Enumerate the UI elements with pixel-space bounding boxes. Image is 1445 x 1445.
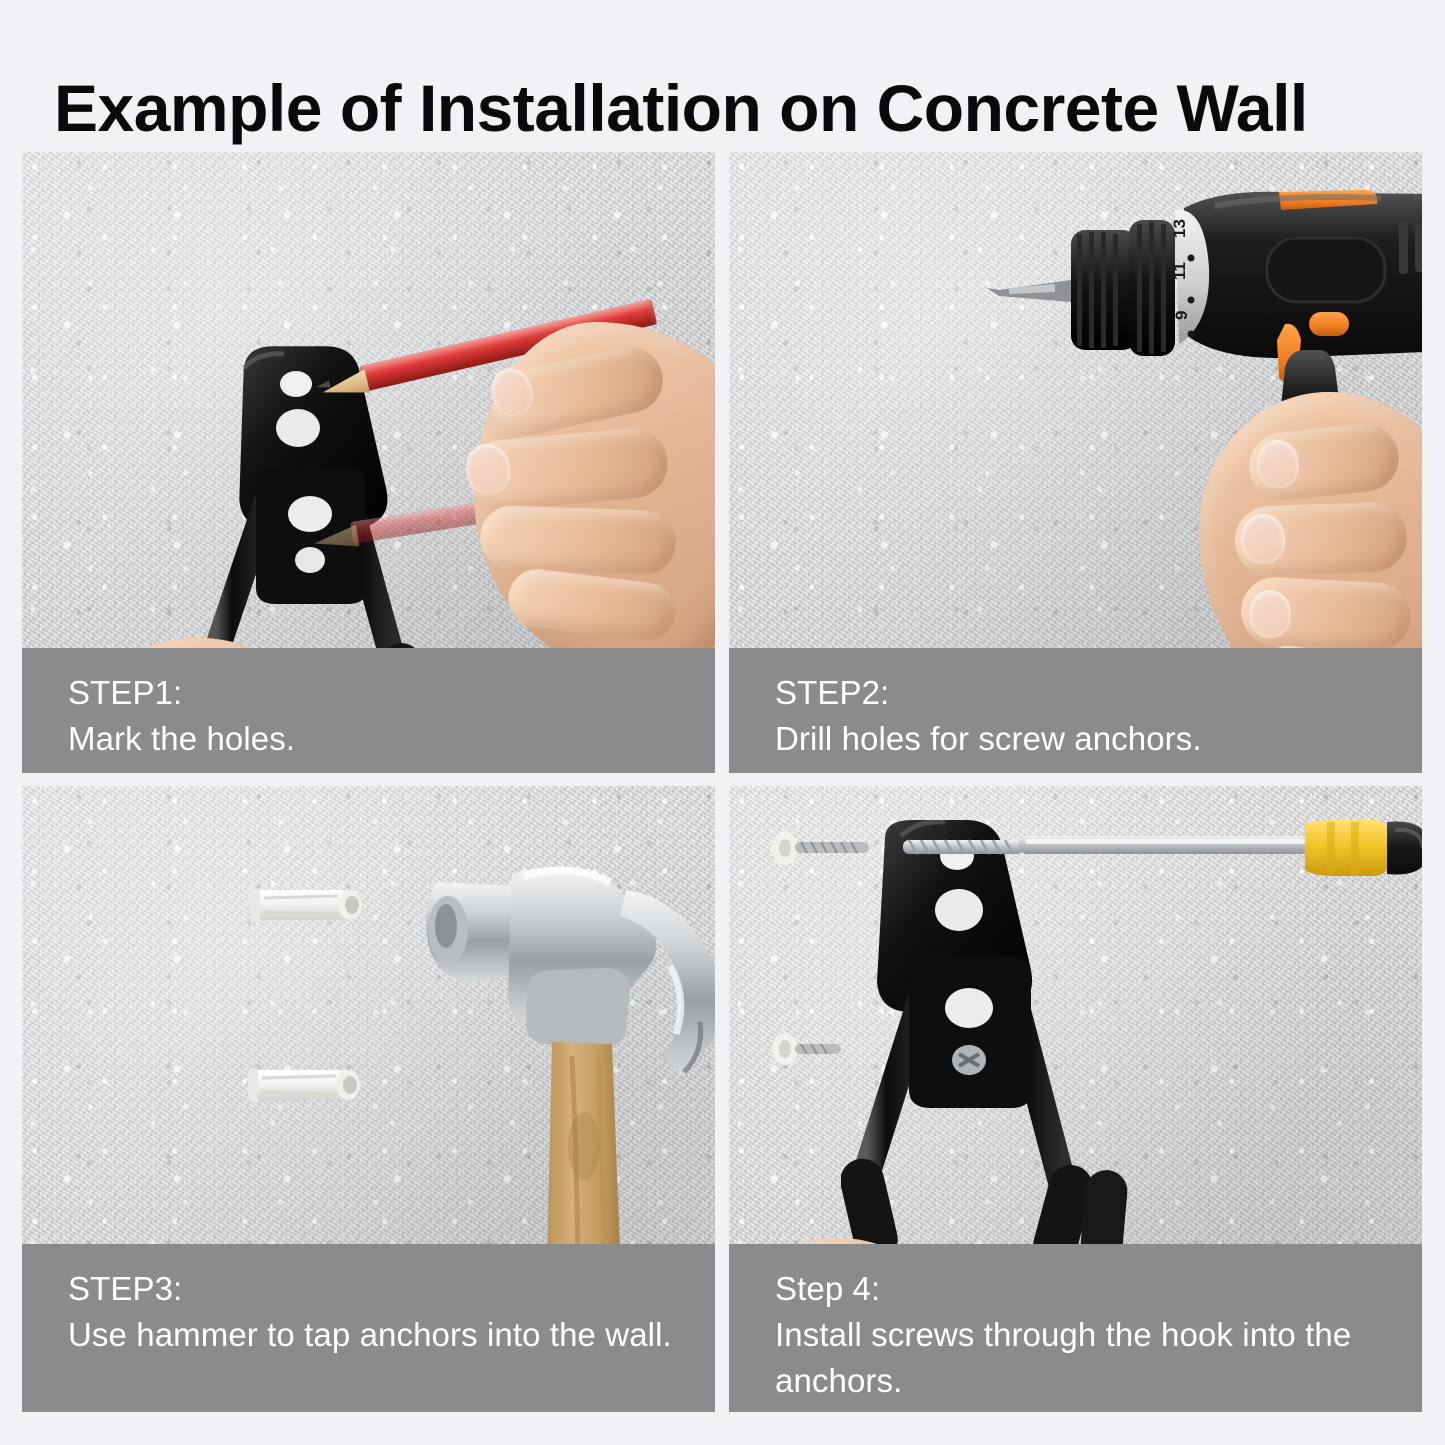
steps-grid: STEP1: Mark the holes. xyxy=(22,152,1422,1412)
svg-text:13: 13 xyxy=(1170,219,1189,238)
wall-anchor-icon xyxy=(244,1064,364,1106)
fingernail xyxy=(1241,514,1285,564)
step-panel-4: Step 4: Install screws through the hook … xyxy=(729,786,1422,1412)
step-4-caption: Step 4: Install screws through the hook … xyxy=(729,1244,1422,1412)
step-4-text: Install screws through the hook into the… xyxy=(775,1312,1422,1404)
step-4-label: Step 4: xyxy=(775,1266,1422,1312)
wall-anchor-icon xyxy=(246,884,366,926)
step-1-caption: STEP1: Mark the holes. xyxy=(22,648,715,773)
screwdriver-icon xyxy=(889,806,1422,902)
finger xyxy=(479,505,677,576)
installation-guide-page: Example of Installation on Concrete Wall xyxy=(0,0,1445,1445)
step-panel-2: 13 11 9 xyxy=(729,152,1422,773)
page-title: Example of Installation on Concrete Wall xyxy=(54,72,1404,146)
step-2-caption: STEP2: Drill holes for screw anchors. xyxy=(729,648,1422,773)
step-3-label: STEP3: xyxy=(68,1266,715,1312)
step-2-text: Drill holes for screw anchors. xyxy=(775,716,1422,762)
step-2-label: STEP2: xyxy=(775,670,1422,716)
step-panel-1: STEP1: Mark the holes. xyxy=(22,152,715,773)
svg-text:9: 9 xyxy=(1172,311,1191,320)
fingernail xyxy=(1257,440,1299,488)
fingernail xyxy=(1249,590,1291,638)
step-1-label: STEP1: xyxy=(68,670,715,716)
svg-text:11: 11 xyxy=(1170,262,1189,280)
step-3-text: Use hammer to tap anchors into the wall. xyxy=(68,1312,715,1358)
step-panel-3: STEP3: Use hammer to tap anchors into th… xyxy=(22,786,715,1412)
step-3-caption: STEP3: Use hammer to tap anchors into th… xyxy=(22,1244,715,1412)
installed-anchor-icon xyxy=(771,1030,851,1068)
step-1-text: Mark the holes. xyxy=(68,716,715,762)
